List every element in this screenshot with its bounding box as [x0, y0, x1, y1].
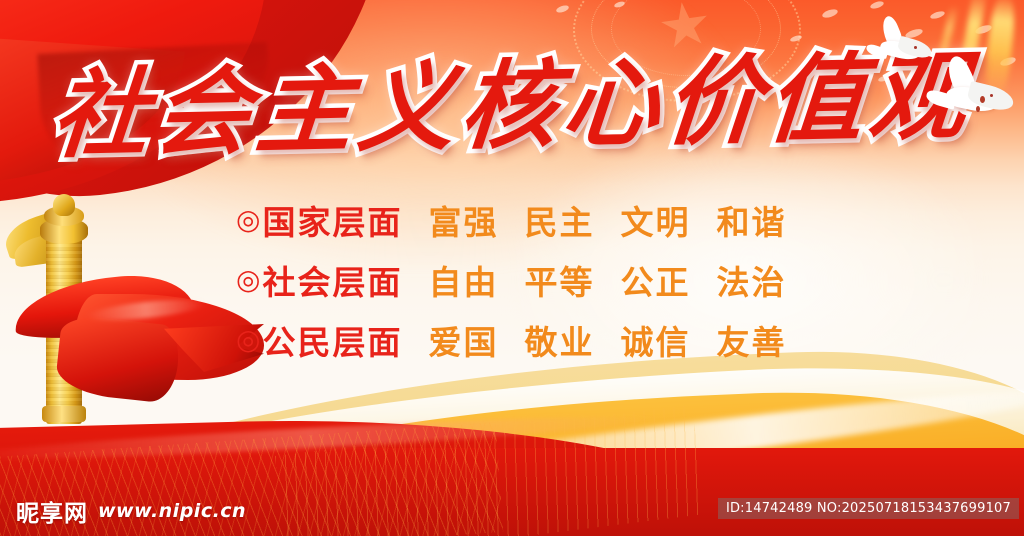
- value-row-national: ◎ 国家层面 富强 民主 文明 和谐: [236, 190, 856, 250]
- value-word: 法治: [716, 256, 786, 304]
- pillar-top-beast: [53, 194, 75, 216]
- value-word: 和谐: [716, 196, 786, 244]
- value-row-label: 国家层面: [262, 196, 402, 244]
- white-dove-icon: [924, 58, 1020, 132]
- core-values-list: ◎ 国家层面 富强 民主 文明 和谐 ◎ 社会层面 自由 平等 公正 法治 ◎ …: [236, 190, 856, 370]
- bullet-double-circle-icon: ◎: [236, 326, 260, 354]
- site-logo-text: 昵享网: [16, 494, 88, 528]
- value-word: 诚信: [620, 316, 690, 364]
- value-row-label: 社会层面: [262, 256, 402, 304]
- value-word: 平等: [524, 256, 594, 304]
- dove-marking: [980, 96, 985, 103]
- value-word: 富强: [428, 196, 498, 244]
- dove-eye: [990, 94, 993, 97]
- value-word: 公正: [620, 256, 690, 304]
- red-silk-ribbon: [14, 268, 264, 398]
- value-row-citizen: ◎ 公民层面 爱国 敬业 诚信 友善: [236, 310, 856, 370]
- watermark: 昵享网 www.nipic.cn: [16, 494, 246, 528]
- dove-marking: [976, 106, 980, 112]
- value-word: 友善: [716, 316, 786, 364]
- bullet-double-circle-icon: ◎: [236, 266, 260, 294]
- image-id-badge: ID:14742489 NO:20250718153437699107: [718, 498, 1019, 519]
- site-url-text: www.nipic.cn: [98, 500, 246, 522]
- value-row-label: 公民层面: [262, 316, 402, 364]
- poster-canvas: 社会主义核心价值观 社会主义核心价值观: [0, 0, 1024, 536]
- value-word: 敬业: [524, 316, 594, 364]
- value-word: 文明: [620, 196, 690, 244]
- value-row-social: ◎ 社会层面 自由 平等 公正 法治: [236, 250, 856, 310]
- pillar-base: [42, 406, 86, 422]
- dove-eye: [914, 46, 917, 49]
- ribbon-segment: [54, 314, 181, 404]
- bullet-double-circle-icon: ◎: [236, 206, 260, 234]
- value-word: 民主: [524, 196, 594, 244]
- value-word: 爱国: [428, 316, 498, 364]
- value-word: 自由: [428, 256, 498, 304]
